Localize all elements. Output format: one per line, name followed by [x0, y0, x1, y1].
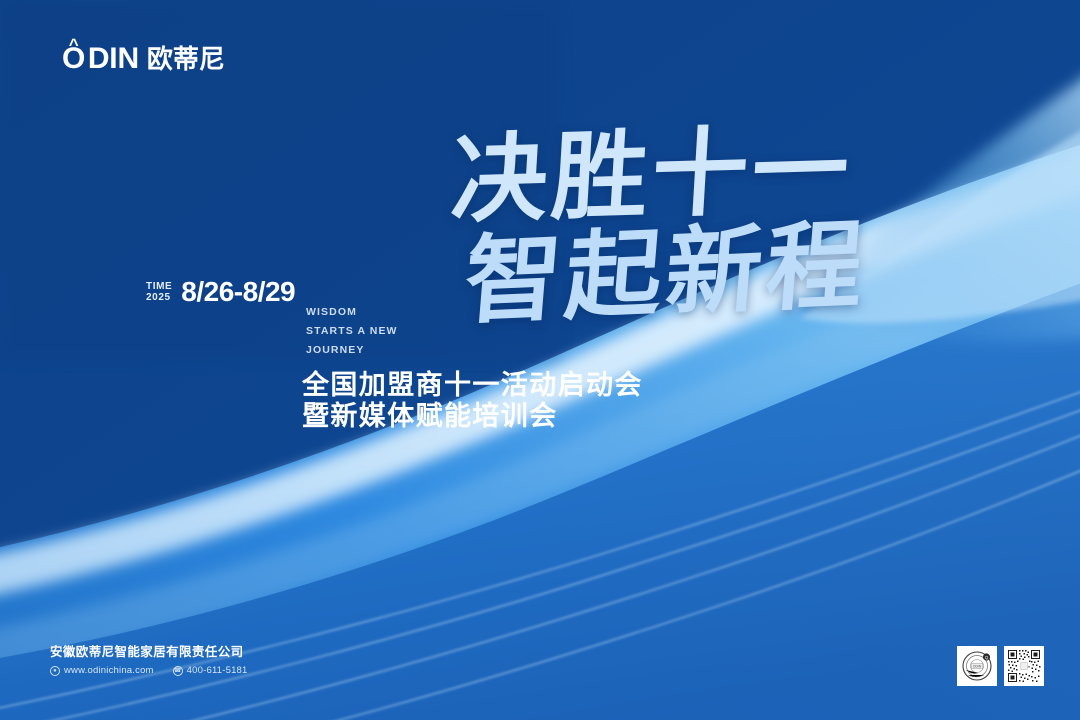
- logo-latin-text: DIN: [88, 44, 139, 74]
- english-tagline: WISDOM STARTS A NEW JOURNEY: [306, 303, 398, 360]
- event-date-block: TIME 2025 8/26-8/29: [146, 278, 295, 306]
- date-label-year: 2025: [146, 292, 172, 303]
- brand-seal-badge[interactable]: Q ODIN: [957, 646, 997, 686]
- seal-icon: Q ODIN: [959, 648, 995, 684]
- logo-o-mark: ^ O: [62, 44, 85, 74]
- footer: 安徽欧蒂尼智能家居有限责任公司 ● www.odinichina.com ☎ 4…: [50, 644, 248, 676]
- qr-icon: [1006, 648, 1042, 684]
- svg-text:Q: Q: [985, 655, 989, 660]
- company-name: 安徽欧蒂尼智能家居有限责任公司: [50, 644, 248, 661]
- background-artwork: [0, 0, 1080, 720]
- date-label-time: TIME: [146, 281, 172, 292]
- logo-circumflex-icon: ^: [69, 36, 78, 53]
- brand-logo[interactable]: ^ O DIN 欧蒂尼: [62, 44, 225, 74]
- globe-icon: ●: [50, 666, 60, 676]
- website-item[interactable]: ● www.odinichina.com: [50, 665, 154, 676]
- website-text: www.odinichina.com: [64, 665, 154, 676]
- logo-chinese-text: 欧蒂尼: [147, 46, 225, 72]
- subtitle-line-1: 全国加盟商十一活动启动会: [302, 370, 643, 401]
- tagline-line-3: JOURNEY: [306, 341, 398, 360]
- wechat-qr-code[interactable]: [1004, 646, 1044, 686]
- tagline-line-2: STARTS A NEW: [306, 322, 398, 341]
- contact-row: ● www.odinichina.com ☎ 400-611-5181: [50, 665, 248, 676]
- headline-line-2: 智起新程: [461, 210, 927, 333]
- svg-text:ODIN: ODIN: [973, 664, 982, 668]
- date-label: TIME 2025: [146, 281, 172, 303]
- headline: 决胜十一 智起新程: [452, 122, 922, 324]
- poster-canvas: ^ O DIN 欧蒂尼 决胜十一 智起新程 TIME 2025 8/26-8/2…: [0, 0, 1080, 720]
- event-subtitle: 全国加盟商十一活动启动会 暨新媒体赋能培训会: [302, 370, 643, 432]
- tagline-line-1: WISDOM: [306, 303, 398, 322]
- qr-code-group: Q ODIN: [957, 646, 1044, 686]
- subtitle-line-2: 暨新媒体赋能培训会: [302, 401, 643, 432]
- phone-item[interactable]: ☎ 400-611-5181: [173, 665, 248, 676]
- phone-text: 400-611-5181: [187, 665, 248, 676]
- phone-icon: ☎: [173, 666, 183, 676]
- date-range-value: 8/26-8/29: [181, 278, 295, 306]
